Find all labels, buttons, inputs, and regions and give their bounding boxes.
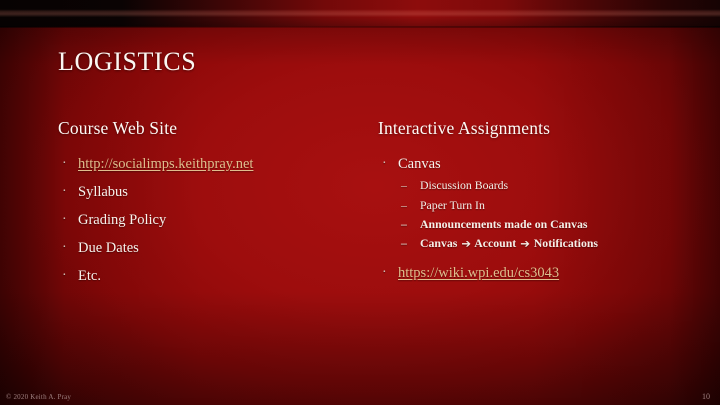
list-item-label: Canvas: [398, 156, 441, 172]
sub-list-item: – Discussion Boards: [398, 178, 688, 192]
slide-header-bar: [0, 0, 720, 27]
column-heading: Course Web Site: [58, 118, 378, 139]
sub-list-item-navigation-path: – Canvas ➔ Account ➔ Notifications: [398, 236, 688, 250]
list-item: · Canvas – Discussion Boards – Paper Tur…: [378, 156, 688, 251]
list-item: · Syllabus: [58, 184, 378, 201]
sub-list-item-label: Announcements made on Canvas: [420, 217, 587, 231]
column-interactive-assignments: Interactive Assignments · Canvas – Discu…: [378, 118, 688, 297]
list-item: · http://socialimps.keithpray.net: [58, 156, 378, 173]
list-item: · https://wiki.wpi.edu/cs3043: [378, 265, 688, 282]
bullet-list-left: · http://socialimps.keithpray.net · Syll…: [58, 156, 378, 286]
dash-marker-icon: –: [401, 236, 407, 250]
sub-list-item: – Paper Turn In: [398, 198, 688, 212]
bullet-marker-icon: ·: [62, 155, 67, 173]
list-item-label: Syllabus: [78, 184, 128, 200]
nav-path-step-notifications: Notifications: [534, 236, 598, 250]
header-divider: [0, 26, 720, 28]
list-item-label: Grading Policy: [78, 212, 166, 228]
bullet-marker-icon: ·: [62, 267, 67, 285]
copyright-notice: © 2020 Keith A. Pray: [6, 393, 71, 401]
dash-marker-icon: –: [401, 217, 407, 231]
sub-list-item-label: Discussion Boards: [420, 178, 508, 192]
wiki-link[interactable]: https://wiki.wpi.edu/cs3043: [398, 265, 559, 281]
list-item: · Etc.: [58, 268, 378, 285]
list-item: · Due Dates: [58, 240, 378, 257]
dash-marker-icon: –: [401, 198, 407, 212]
bullet-marker-icon: ·: [62, 211, 67, 229]
slide-page-number: 10: [702, 392, 710, 401]
right-arrow-icon: ➔: [460, 237, 472, 251]
sub-list-item: – Announcements made on Canvas: [398, 217, 688, 231]
bullet-marker-icon: ·: [382, 155, 387, 173]
course-website-link[interactable]: http://socialimps.keithpray.net: [78, 156, 253, 172]
bullet-list-right: · Canvas – Discussion Boards – Paper Tur…: [378, 156, 688, 282]
slide-title: LOGISTICS: [58, 47, 196, 77]
bullet-marker-icon: ·: [382, 264, 387, 282]
content-columns: Course Web Site · http://socialimps.keit…: [58, 118, 688, 297]
list-item: · Grading Policy: [58, 212, 378, 229]
column-heading: Interactive Assignments: [378, 118, 688, 139]
sub-bullet-list: – Discussion Boards – Paper Turn In – An…: [398, 178, 688, 251]
bullet-marker-icon: ·: [62, 183, 67, 201]
bullet-marker-icon: ·: [62, 239, 67, 257]
dash-marker-icon: –: [401, 178, 407, 192]
column-course-web-site: Course Web Site · http://socialimps.keit…: [58, 118, 378, 297]
right-arrow-icon: ➔: [519, 237, 531, 251]
sub-list-item-label: Paper Turn In: [420, 198, 485, 212]
nav-path-step-account: Account: [474, 236, 516, 250]
list-item-label: Due Dates: [78, 240, 139, 256]
list-item-label: Etc.: [78, 268, 101, 284]
nav-path-step-canvas: Canvas: [420, 236, 457, 250]
presentation-slide: CS 3043 Social Implications Of Computing…: [0, 0, 720, 405]
